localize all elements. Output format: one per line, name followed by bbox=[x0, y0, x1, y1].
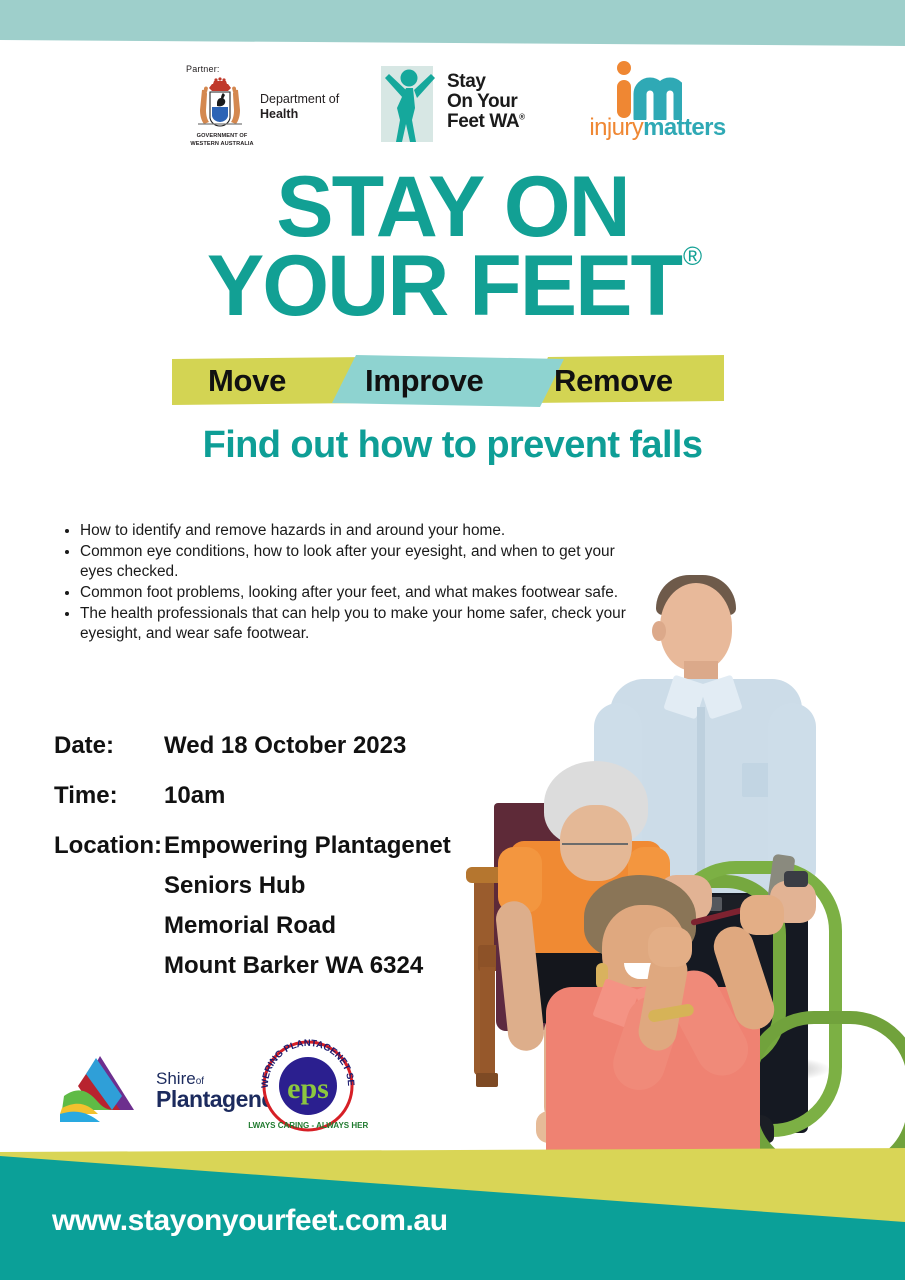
website-url[interactable]: www.stayonyourfeet.com.au bbox=[52, 1204, 448, 1238]
svg-text:eps: eps bbox=[287, 1072, 329, 1105]
im-monogram-icon bbox=[610, 60, 682, 120]
poster-root: Partner: GOVERNMENT OF WESTERN AUSTRA bbox=[0, 0, 905, 1280]
location-label: Location: bbox=[54, 832, 164, 980]
stay-on-your-feet-wordmark: Stay On Your Feet WA® bbox=[447, 72, 525, 131]
sponsor-logo-row: Shireof Plantagenet EMPOWERING PLANTAGEN… bbox=[56, 1036, 386, 1146]
poster-tagline: Find out how to prevent falls bbox=[0, 424, 905, 467]
poster-footer: www.stayonyourfeet.com.au bbox=[0, 1148, 905, 1280]
injury-matters-wordmark: injurymatters bbox=[565, 116, 750, 140]
time-label: Time: bbox=[54, 782, 164, 810]
exercise-photo-collage bbox=[452, 575, 905, 1155]
partner-logo-row: Partner: GOVERNMENT OF WESTERN AUSTRA bbox=[0, 58, 905, 150]
stay-on-your-feet-wa-logo: Stay On Your Feet WA® bbox=[375, 62, 550, 150]
top-decorative-band bbox=[0, 0, 905, 50]
injury-matters-logo: injurymatters bbox=[565, 60, 750, 152]
ribbon-word-remove: Remove bbox=[554, 363, 673, 399]
title-line-1: STAY ON bbox=[0, 168, 905, 247]
partner-label: Partner: bbox=[186, 64, 220, 74]
chair-foot bbox=[476, 1073, 498, 1087]
empowering-plantagenet-seniors-logo: EMPOWERING PLANTAGENET SENIORS eps ALWAY… bbox=[248, 1036, 368, 1142]
man-head bbox=[660, 583, 732, 671]
ribbon-word-improve: Improve bbox=[365, 363, 484, 399]
shire-of-plantagenet-logo: Shireof Plantagenet bbox=[60, 1048, 260, 1134]
kneeling-woman-hand-right bbox=[648, 927, 692, 967]
list-item: How to identify and remove hazards in an… bbox=[80, 521, 648, 541]
man-wristwatch bbox=[784, 871, 808, 887]
svg-text:ALWAYS CARING - ALWAYS HERE: ALWAYS CARING - ALWAYS HERE bbox=[248, 1121, 368, 1130]
resistance-band-loop-lower bbox=[744, 1011, 905, 1155]
poster-title: STAY ON YOUR FEET® bbox=[0, 168, 905, 326]
chair-leg-left bbox=[480, 967, 495, 1082]
person-arms-raised-icon bbox=[375, 62, 445, 146]
move-improve-remove-ribbon: Move Improve Remove bbox=[172, 355, 724, 407]
kneeling-woman-hand-left bbox=[740, 895, 784, 935]
department-of-health-logo: Partner: GOVERNMENT OF WESTERN AUSTRA bbox=[178, 64, 358, 150]
seated-woman-glasses-icon bbox=[562, 843, 628, 857]
wa-coat-of-arms-icon bbox=[190, 76, 250, 132]
plantagenet-mountains-icon bbox=[60, 1052, 168, 1128]
date-label: Date: bbox=[54, 732, 164, 760]
government-label: GOVERNMENT OF WESTERN AUSTRALIA bbox=[182, 132, 262, 148]
department-name: Department of Health bbox=[260, 92, 339, 123]
title-line-2: YOUR FEET® bbox=[0, 247, 905, 326]
registered-trademark-icon: ® bbox=[683, 241, 700, 271]
man-ear bbox=[652, 621, 666, 641]
ribbon-word-move: Move bbox=[208, 363, 286, 399]
